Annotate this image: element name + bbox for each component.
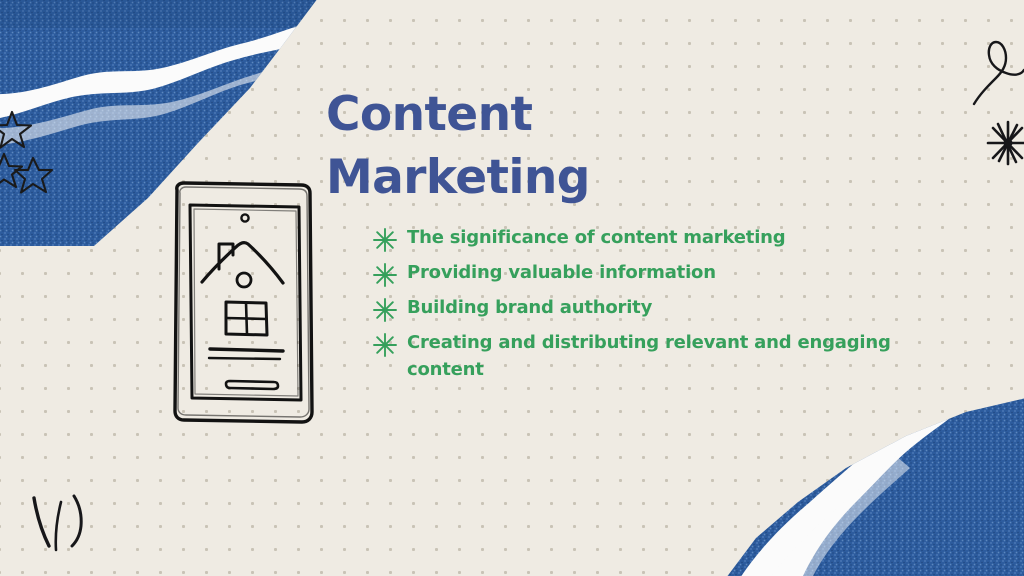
starburst-icon	[372, 332, 398, 358]
starburst-icon	[372, 262, 398, 288]
list-item: Building brand authority	[372, 294, 946, 323]
starburst-icon	[372, 227, 398, 253]
list-item-label: Creating and distributing relevant and e…	[407, 329, 946, 384]
list-item-label: The significance of content marketing	[407, 224, 785, 251]
starburst-icon	[372, 297, 398, 323]
slide-canvas: Content Marketing The significance of co…	[0, 0, 1024, 576]
list-item: Providing valuable information	[372, 259, 946, 288]
list-item-label: Building brand authority	[407, 294, 652, 321]
page-title: Content Marketing	[326, 84, 946, 210]
bullet-list: The significance of content marketing Pr…	[372, 224, 946, 384]
list-item-label: Providing valuable information	[407, 259, 716, 286]
hand-drawn-phone-with-house-illustration	[168, 176, 320, 432]
slide-content: Content Marketing The significance of co…	[326, 84, 946, 390]
list-item: Creating and distributing relevant and e…	[372, 329, 946, 384]
list-item: The significance of content marketing	[372, 224, 946, 253]
